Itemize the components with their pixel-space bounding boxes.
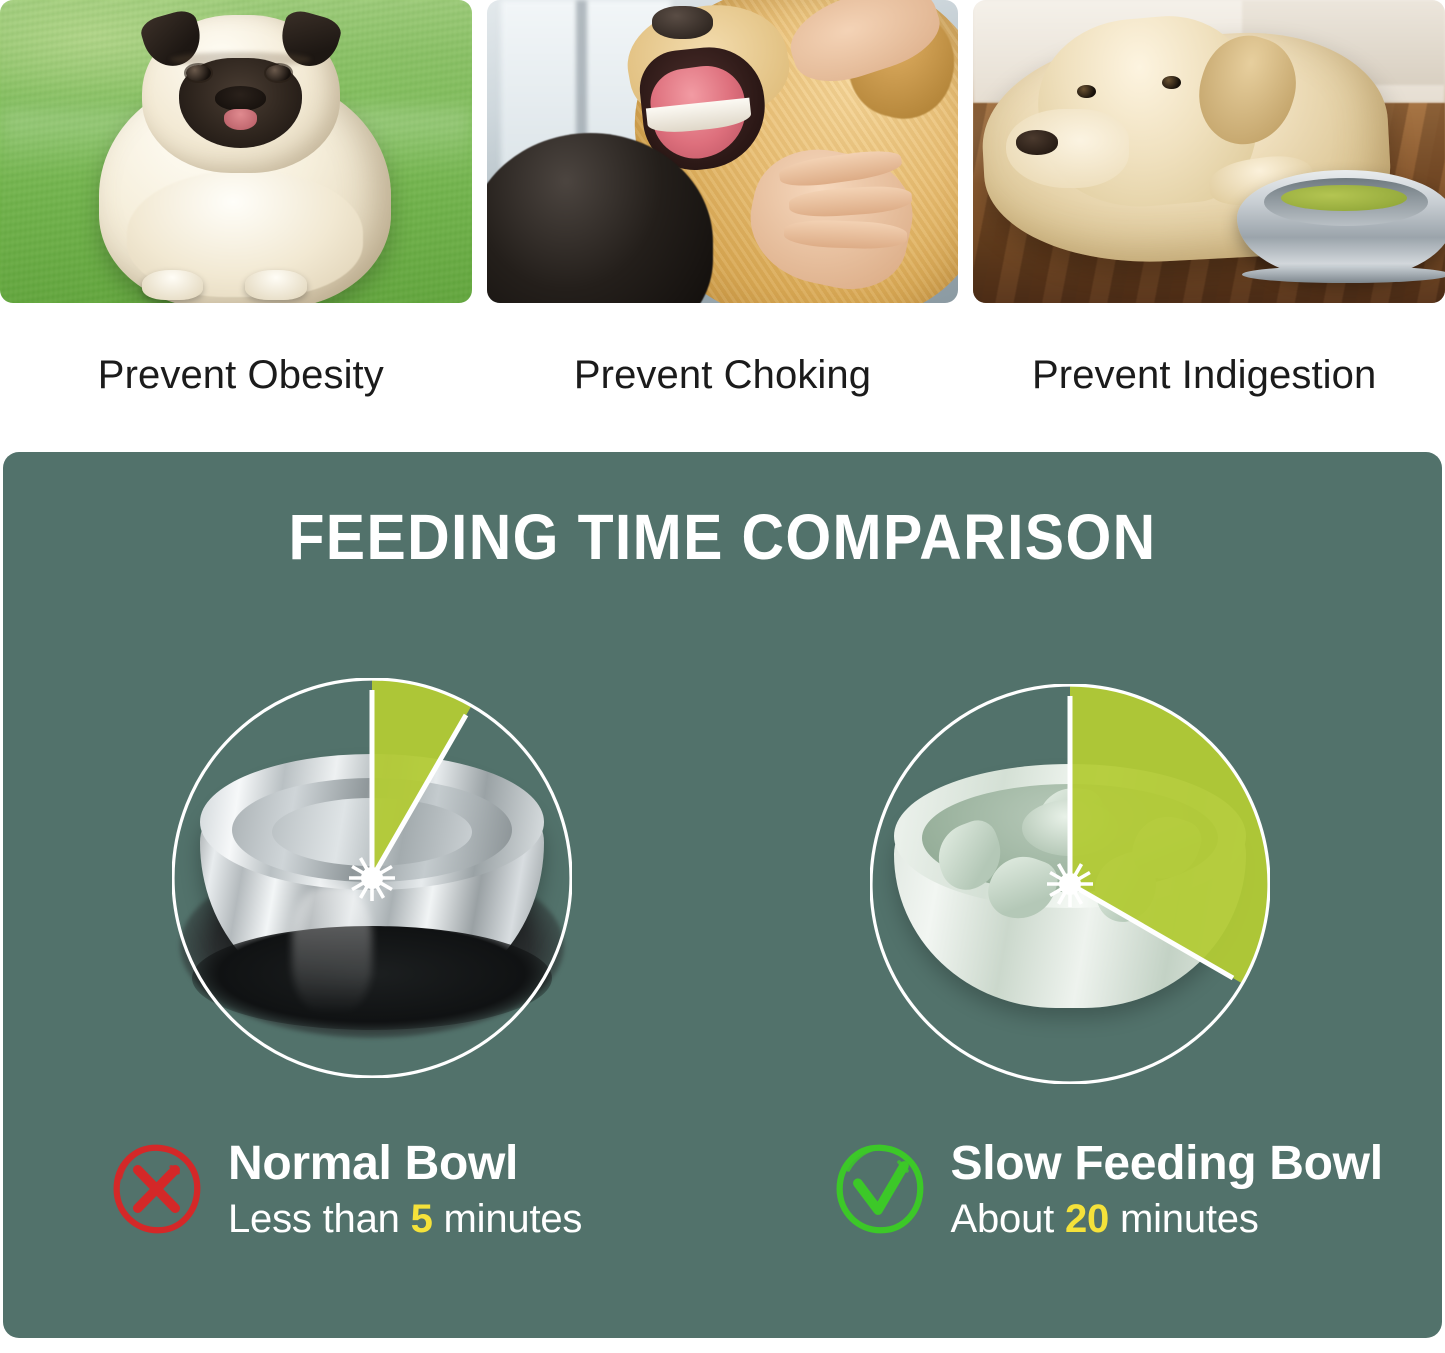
dog-nose [652,6,713,39]
caption-prevent-choking: Prevent Choking [482,332,964,418]
slow-feeding-bowl-title: Slow Feeding Bowl [951,1135,1383,1193]
slow-feeding-bowl-subtitle: About 20 minutes [951,1193,1383,1245]
photo-prevent-indigestion [973,0,1445,303]
benefit-captions: Prevent Obesity Prevent Choking Prevent … [0,332,1445,418]
labrador-eye-right [1162,76,1181,90]
bowl-food [1281,185,1407,211]
label-slow-feeding-bowl: Slow Feeding Bowl About 20 minutes [115,1135,1445,1265]
circled-check-icon [831,1141,927,1237]
pug-paw-left [142,270,203,300]
bowl-base-ring [1242,266,1445,283]
comparison-labels: Normal Bowl Less than 5 minutes Slow Fee… [0,1135,1445,1265]
photo-prevent-obesity [0,0,472,303]
slow-feeder-dial [870,684,1270,1084]
panel-title: FEEDING TIME COMPARISON [61,500,1385,574]
caption-prevent-indigestion: Prevent Indigestion [963,332,1445,418]
benefit-photo-strip [0,0,1445,310]
labrador-nose [1016,130,1058,154]
normal-bowl-clock-figure [172,678,572,1078]
pug-eye-right [266,65,291,81]
steel-food-bowl [1237,170,1445,279]
slow-feeder-clock-figure [870,684,1270,1084]
slow-feeding-sub-prefix: About [951,1197,1065,1241]
normal-bowl-dial [172,678,572,1078]
slow-feeding-sub-suffix: minutes [1109,1197,1259,1241]
slow-feeding-sub-value: 20 [1065,1197,1109,1241]
pug-snout [215,86,267,110]
caption-prevent-obesity: Prevent Obesity [0,332,482,418]
pug-paw-right [245,270,306,300]
slow-feeding-bowl-text: Slow Feeding Bowl About 20 minutes [951,1135,1383,1245]
dial-center-dot [1059,873,1081,895]
pug-eye-left [186,65,211,81]
dial-center-dot [361,867,383,889]
photo-prevent-choking [487,0,959,303]
